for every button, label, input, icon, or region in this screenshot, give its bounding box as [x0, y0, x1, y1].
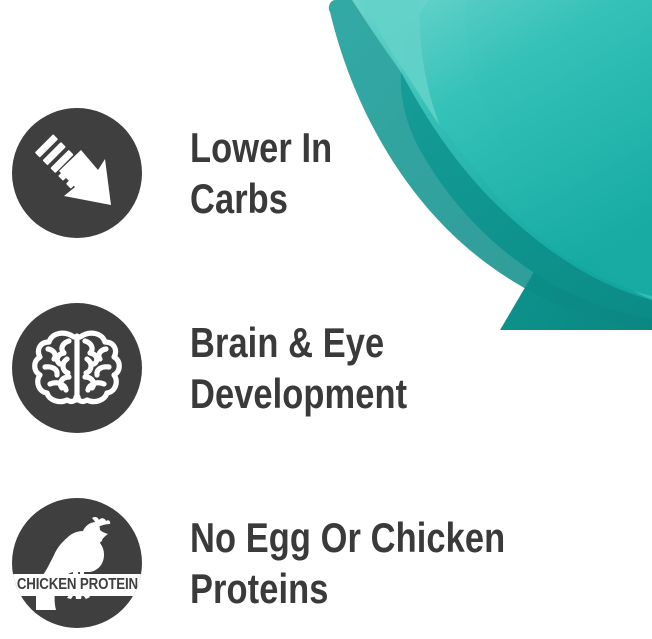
feature-label-no-egg-or-chicken-proteins: No Egg Or Chicken Proteins — [190, 512, 569, 614]
feature-infographic: Lower In Carbs — [0, 0, 652, 639]
feature-row-brain-eye-development: Brain & Eye Development — [0, 303, 652, 433]
brain-icon — [12, 303, 142, 433]
feature-label-brain-eye-development: Brain & Eye Development — [190, 317, 569, 419]
down-arrow-chart-icon-badge — [12, 108, 142, 238]
stamp-chicken-protein-text: CHICKEN PROTEIN — [16, 576, 137, 594]
feature-label-lower-in-carbs: Lower In Carbs — [190, 122, 569, 224]
stamp-no-text-wrapper: NO — [12, 548, 142, 574]
brain-icon-badge — [12, 303, 142, 433]
stamp-band: CHICKEN PROTEIN — [12, 574, 142, 596]
feature-row-lower-in-carbs: Lower In Carbs — [0, 108, 652, 238]
no-chicken-protein-icon-badge: NO CHICKEN PROTEIN — [12, 498, 142, 628]
down-arrow-chart-icon — [12, 108, 142, 238]
stamp-no-text: NO — [61, 548, 92, 575]
feature-row-no-egg-or-chicken-proteins: NO CHICKEN PROTEIN No Egg Or Chicken Pro… — [0, 498, 652, 628]
